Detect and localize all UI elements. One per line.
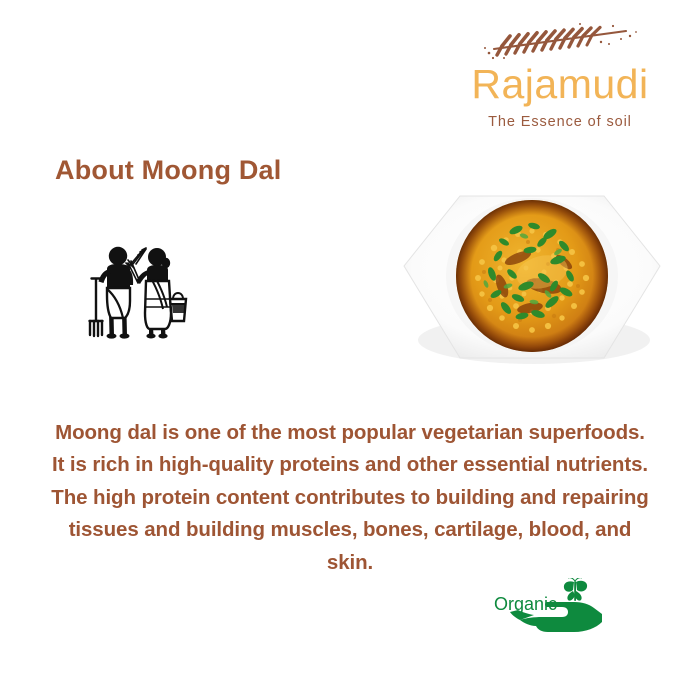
butterfly-icon bbox=[564, 578, 587, 601]
brand-logo: Rajamudi The Essence of soil bbox=[440, 22, 680, 130]
wheat-sprig-icon bbox=[480, 22, 640, 62]
brand-name: Rajamudi bbox=[440, 64, 680, 105]
farmer-couple-icon bbox=[78, 243, 188, 343]
brand-tagline: The Essence of soil bbox=[440, 114, 680, 130]
about-paragraph: Moong dal is one of the most popular veg… bbox=[50, 417, 650, 580]
organic-badge: Organic bbox=[490, 578, 610, 640]
page-title: About Moong Dal bbox=[55, 155, 281, 186]
organic-label: Organic bbox=[494, 594, 557, 614]
poster-canvas: Rajamudi The Essence of soil About Moong… bbox=[0, 0, 700, 700]
moong-dal-plate-photo bbox=[398, 190, 666, 370]
